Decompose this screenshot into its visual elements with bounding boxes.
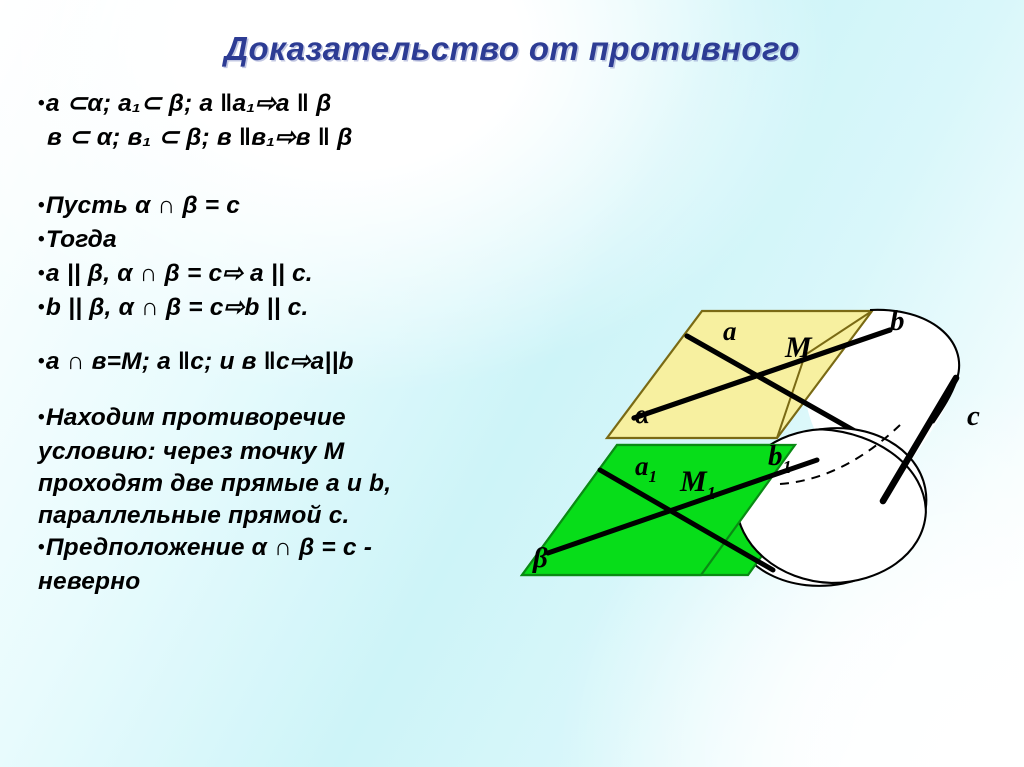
label-c: c — [967, 400, 980, 432]
proof-line-6: b || β, α ∩ β = c⇨b || c. — [38, 292, 558, 326]
proof-line-10: проходят две прямые a и b, — [38, 468, 558, 500]
label-alpha: α — [635, 399, 651, 429]
proof-line-7: a ∩ в=M; a ‖c; и в ‖c⇨a||b — [38, 346, 558, 380]
spacer-3 — [38, 380, 558, 402]
proof-line-4: Тогда — [38, 224, 558, 258]
proof-line-9: условию: через точку M — [38, 436, 558, 468]
spacer-1 — [38, 154, 558, 190]
spacer-2 — [38, 326, 558, 346]
proof-line-8: Находим противоречие — [38, 402, 558, 436]
proof-line-3: Пусть α ∩ β = c — [38, 190, 558, 224]
proof-line-1: a ⊂α; a₁⊂ β; a ‖a₁⇨a ‖ β — [38, 88, 558, 122]
label-a: a — [723, 316, 737, 346]
geometry-figure: a M b α a1 M1 b1 β — [505, 285, 1024, 595]
proof-line-11: параллельные прямой c. — [38, 500, 558, 532]
label-M: M — [784, 331, 813, 364]
proof-line-5: a || β, α ∩ β = c⇨ a || c. — [38, 258, 558, 292]
proof-text-column: a ⊂α; a₁⊂ β; a ‖a₁⇨a ‖ β в ⊂ α; в₁ ⊂ β; … — [38, 88, 558, 598]
proof-line-2: в ⊂ α; в₁ ⊂ β; в ‖в₁⇨в ‖ β — [38, 122, 558, 154]
slide-canvas: Доказательство от противного a ⊂α; a₁⊂ β… — [0, 0, 1024, 767]
page-title: Доказательство от противного — [0, 30, 1024, 68]
proof-line-12: Предположение α ∩ β = c - — [38, 532, 558, 566]
label-b: b — [890, 305, 905, 337]
label-beta: β — [532, 542, 548, 574]
proof-line-13: неверно — [38, 566, 558, 598]
